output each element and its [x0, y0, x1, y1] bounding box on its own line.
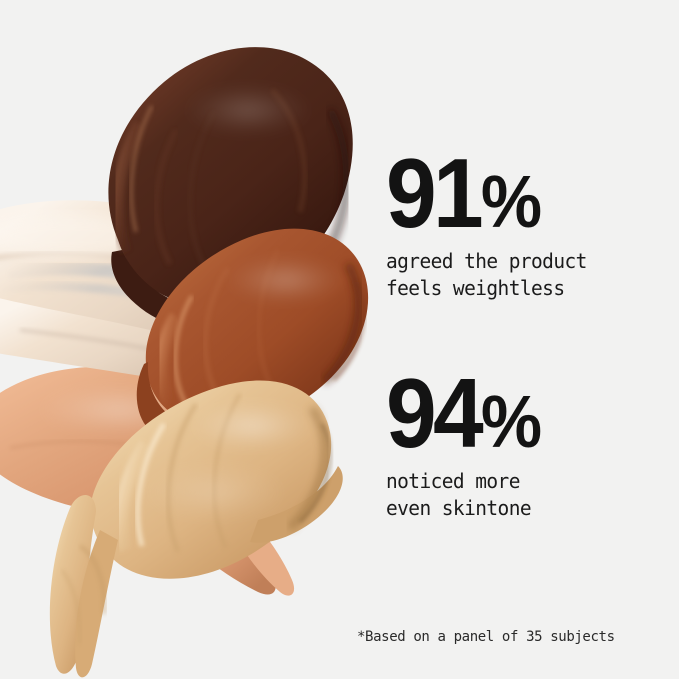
percent-symbol: %: [481, 388, 540, 456]
stat-number-91: 91%: [386, 148, 646, 238]
stat-caption-skintone: noticed more even skintone: [386, 468, 652, 522]
foundation-swatch-artwork: [0, 0, 679, 679]
foundation-shade-ad: 91% agreed the product feels weightless …: [0, 0, 679, 679]
percent-symbol: %: [481, 168, 540, 236]
caption-line: even skintone: [386, 495, 652, 522]
caption-line: agreed the product: [386, 248, 652, 275]
stat-number-94: 94%: [386, 368, 646, 458]
stat-block-skintone: 94% noticed more even skintone: [386, 368, 666, 522]
caption-line: feels weightless: [386, 275, 652, 302]
stat-value: 94: [386, 358, 480, 468]
stat-caption-weightless: agreed the product feels weightless: [386, 248, 652, 302]
stat-value: 91: [386, 138, 480, 248]
footnote-disclaimer: *Based on a panel of 35 subjects: [357, 628, 615, 645]
caption-line: noticed more: [386, 468, 652, 495]
stat-block-weightless: 91% agreed the product feels weightless: [386, 148, 666, 302]
